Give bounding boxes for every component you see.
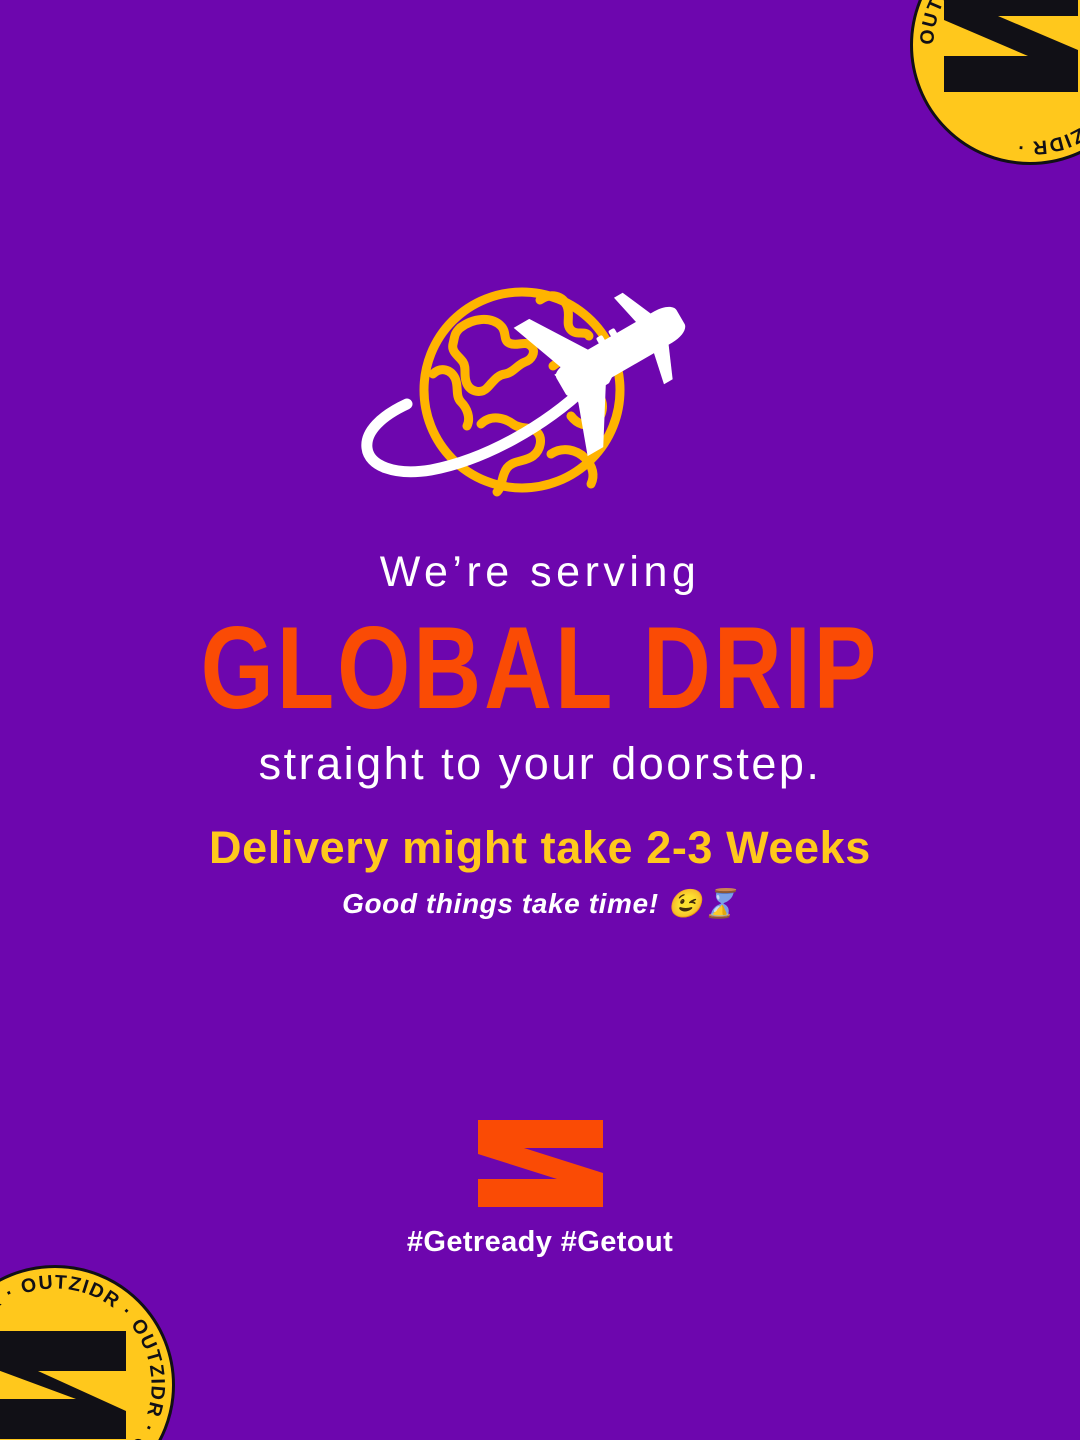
z-logo bbox=[478, 1120, 603, 1207]
badge-z-mark-top-right bbox=[936, 0, 1080, 96]
delivery-block: Delivery might take 2-3 Weeks Good thing… bbox=[0, 822, 1080, 920]
globe-with-airplane-icon bbox=[355, 278, 715, 513]
footer-block: #Getready #Getout bbox=[0, 1120, 1080, 1259]
headline-block: We’re serving GLOBAL DRIP straight to yo… bbox=[0, 548, 1080, 788]
badge-z-mark-bottom-left bbox=[0, 1325, 130, 1440]
brand-badge-top-right: OUTZIDR · OUTZIDR · OUTZIDR · OUTZIDR · bbox=[910, 0, 1080, 165]
delivery-headline: Delivery might take 2-3 Weeks bbox=[0, 822, 1080, 874]
headline-line-1: We’re serving bbox=[0, 548, 1080, 596]
headline-line-2-global-drip: GLOBAL DRIP bbox=[11, 608, 1069, 731]
brand-badge-bottom-left: OUTZIDR · OUTZIDR · OUTZIDR · OUTZIDR · … bbox=[0, 1265, 175, 1440]
headline-line-3: straight to your doorstep. bbox=[0, 739, 1080, 789]
delivery-subtext: Good things take time! 😉⌛ bbox=[0, 887, 1080, 920]
promo-poster: OUTZIDR · OUTZIDR · OUTZIDR · OUTZIDR · … bbox=[0, 0, 1080, 1440]
footer-hashtags: #Getready #Getout bbox=[0, 1226, 1080, 1259]
